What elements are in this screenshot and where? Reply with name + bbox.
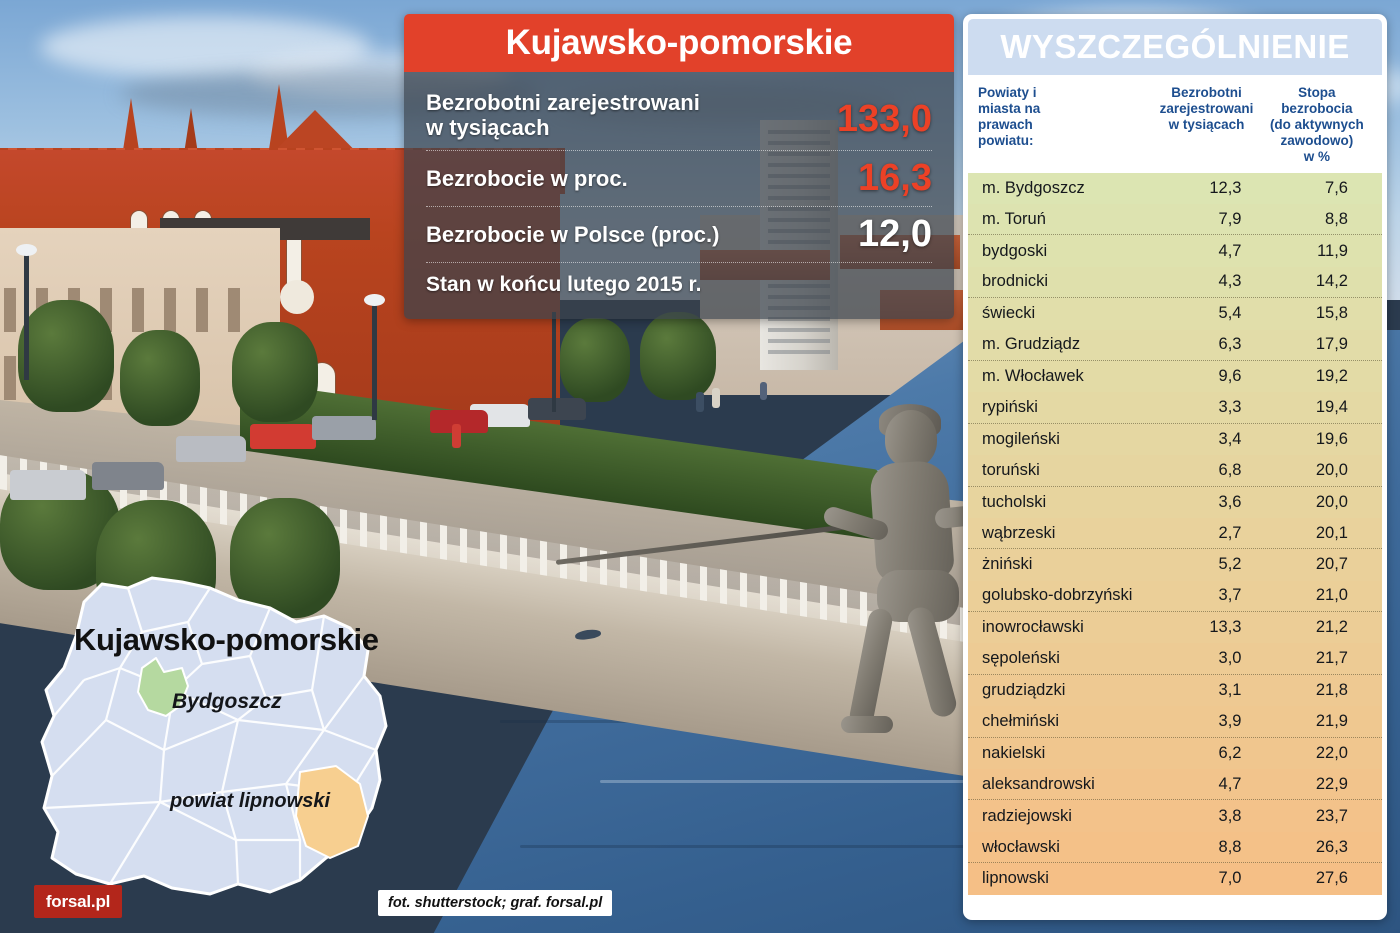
map-label-bydgoszcz: Bydgoszcz <box>172 690 282 714</box>
column-header-rate-line5: w % <box>1304 149 1330 164</box>
lamp-head <box>16 244 37 256</box>
cell-registered-thousands: 5,4 <box>1153 304 1258 323</box>
cell-registered-thousands: 3,3 <box>1153 398 1258 417</box>
cell-powiat-name: grudziądzki <box>982 681 1153 700</box>
tree <box>120 330 200 426</box>
region-map: Kujawsko-pomorskie Bydgoszcz powiat lipn… <box>24 540 444 930</box>
map-svg <box>24 540 444 930</box>
tree <box>640 312 716 400</box>
statue-foot <box>841 716 893 733</box>
table-row: tucholski3,620,0 <box>968 487 1382 518</box>
tree <box>560 318 630 402</box>
table-row: sępoleński3,021,7 <box>968 643 1382 674</box>
cell-powiat-name: m. Bydgoszcz <box>982 179 1153 198</box>
column-header-rate-line4: zawodowo) <box>1280 133 1353 148</box>
page-title: Kujawsko-pomorskie <box>506 23 853 63</box>
cell-registered-thousands: 3,1 <box>1153 681 1258 700</box>
cell-registered-thousands: 12,3 <box>1153 179 1258 198</box>
cell-registered-thousands: 3,9 <box>1153 712 1258 731</box>
car <box>312 416 376 440</box>
stat-value-registered: 133,0 <box>837 98 932 141</box>
stat-label-poland-rate: Bezrobocie w Polsce (proc.) <box>426 222 719 247</box>
table-row: świecki5,415,8 <box>968 298 1382 329</box>
cell-powiat-name: bydgoski <box>982 242 1153 261</box>
map-title: Kujawsko-pomorskie <box>74 622 379 658</box>
cell-registered-thousands: 4,7 <box>1153 775 1258 794</box>
table-row: m. Grudziądz6,317,9 <box>968 330 1382 361</box>
table-row: żniński5,220,7 <box>968 549 1382 580</box>
table-row: rypiński3,319,4 <box>968 392 1382 423</box>
cell-unemployment-rate: 20,1 <box>1257 524 1370 543</box>
cell-powiat-name: radziejowski <box>982 807 1153 826</box>
cell-registered-thousands: 3,6 <box>1153 493 1258 512</box>
stat-value-poland-rate: 12,0 <box>858 213 932 256</box>
cell-powiat-name: golubsko-dobrzyński <box>982 586 1153 605</box>
tree <box>18 300 114 412</box>
tree <box>232 322 318 422</box>
cell-powiat-name: włocławski <box>982 838 1153 857</box>
cell-unemployment-rate: 21,9 <box>1257 712 1370 731</box>
cell-powiat-name: sępoleński <box>982 649 1153 668</box>
table-row: inowrocławski13,321,2 <box>968 612 1382 643</box>
cell-powiat-name: świecki <box>982 304 1153 323</box>
table-row: włocławski8,826,3 <box>968 832 1382 863</box>
stats-panel-header: Kujawsko-pomorskie <box>404 14 954 72</box>
stats-panel: Kujawsko-pomorskie Bezrobotni zarejestro… <box>404 14 954 319</box>
cell-registered-thousands: 3,0 <box>1153 649 1258 668</box>
map-label-powiat-lipnowski: powiat lipnowski <box>170 790 330 813</box>
column-header-registered-line2: zarejestrowani <box>1160 101 1254 116</box>
cell-registered-thousands: 6,2 <box>1153 744 1258 763</box>
details-table-panel: WYSZCZEGÓLNIENIE Powiaty i miasta na pra… <box>963 14 1387 920</box>
stat-label-registered-line2: w tysiącach <box>426 115 550 140</box>
cell-registered-thousands: 7,0 <box>1153 869 1258 888</box>
cell-powiat-name: tucholski <box>982 493 1153 512</box>
stat-label-unemployment-rate: Bezrobocie w proc. <box>426 166 628 191</box>
stat-label-registered-line1: Bezrobotni zarejestrowani <box>426 90 700 115</box>
cell-powiat-name: m. Włocławek <box>982 367 1153 386</box>
cell-powiat-name: rypiński <box>982 398 1153 417</box>
cell-registered-thousands: 9,6 <box>1153 367 1258 386</box>
table-row: chełmiński3,921,9 <box>968 706 1382 737</box>
stat-row-poland-rate: Bezrobocie w Polsce (proc.) 12,0 <box>426 213 932 263</box>
table-row: brodnicki4,314,2 <box>968 267 1382 298</box>
cell-powiat-name: m. Toruń <box>982 210 1153 229</box>
stat-row-registered: Bezrobotni zarejestrowani w tysiącach 13… <box>426 90 932 151</box>
cell-registered-thousands: 4,3 <box>1153 272 1258 291</box>
cell-powiat-name: wąbrzeski <box>982 524 1153 543</box>
forsal-logo[interactable]: forsal.pl <box>34 885 122 918</box>
column-header-rate-line3: (do aktywnych <box>1270 117 1364 132</box>
details-table-title: WYSZCZEGÓLNIENIE <box>1000 28 1349 66</box>
cell-powiat-name: nakielski <box>982 744 1153 763</box>
car <box>92 462 164 490</box>
lamp-head <box>364 294 385 306</box>
table-column-headers: Powiaty i miasta na prawach powiatu: Bez… <box>968 75 1382 173</box>
cell-unemployment-rate: 27,6 <box>1257 869 1370 888</box>
cell-unemployment-rate: 21,2 <box>1257 618 1370 637</box>
table-row: mogileński3,419,6 <box>968 424 1382 455</box>
cell-registered-thousands: 3,7 <box>1153 586 1258 605</box>
column-header-name-line4: powiatu: <box>978 133 1034 148</box>
details-table-header: WYSZCZEGÓLNIENIE <box>968 19 1382 75</box>
cell-unemployment-rate: 8,8 <box>1257 210 1370 229</box>
cell-unemployment-rate: 7,6 <box>1257 179 1370 198</box>
car <box>250 424 316 449</box>
stats-panel-body: Bezrobotni zarejestrowani w tysiącach 13… <box>404 72 954 319</box>
pedestrian <box>696 392 704 412</box>
cell-unemployment-rate: 15,8 <box>1257 304 1370 323</box>
lamp-post <box>24 250 29 380</box>
cell-registered-thousands: 5,2 <box>1153 555 1258 574</box>
cell-powiat-name: m. Grudziądz <box>982 335 1153 354</box>
stat-label-registered: Bezrobotni zarejestrowani w tysiącach <box>426 90 700 140</box>
table-row: grudziądzki3,121,8 <box>968 675 1382 706</box>
cell-powiat-name: brodnicki <box>982 272 1153 291</box>
table-row: lipnowski7,027,6 <box>968 863 1382 894</box>
stat-row-unemployment-rate: Bezrobocie w proc. 16,3 <box>426 157 932 207</box>
cell-unemployment-rate: 23,7 <box>1257 807 1370 826</box>
table-row: m. Włocławek9,619,2 <box>968 361 1382 392</box>
column-header-name-line3: prawach <box>978 117 1033 132</box>
lamp-post <box>372 300 377 420</box>
cell-unemployment-rate: 21,7 <box>1257 649 1370 668</box>
pedestrian <box>712 388 720 408</box>
cell-unemployment-rate: 22,9 <box>1257 775 1370 794</box>
cell-unemployment-rate: 26,3 <box>1257 838 1370 857</box>
table-row: m. Toruń7,98,8 <box>968 204 1382 235</box>
column-header-name-line1: Powiaty i <box>978 85 1037 100</box>
cell-registered-thousands: 7,9 <box>1153 210 1258 229</box>
pedestrian <box>760 382 767 400</box>
cell-powiat-name: chełmiński <box>982 712 1153 731</box>
cell-powiat-name: mogileński <box>982 430 1153 449</box>
column-header-registered: Bezrobotni zarejestrowani w tysiącach <box>1151 85 1261 165</box>
car <box>176 436 246 462</box>
cell-registered-thousands: 8,8 <box>1153 838 1258 857</box>
cell-registered-thousands: 6,8 <box>1153 461 1258 480</box>
column-header-rate-line2: bezrobocia <box>1281 101 1352 116</box>
pedestrian <box>452 424 461 448</box>
cell-unemployment-rate: 19,4 <box>1257 398 1370 417</box>
table-row: toruński6,820,0 <box>968 455 1382 486</box>
lamp-post <box>552 312 556 412</box>
cell-powiat-name: żniński <box>982 555 1153 574</box>
stat-footnote: Stan w końcu lutego 2015 r. <box>426 273 701 297</box>
column-header-name: Powiaty i miasta na prawach powiatu: <box>978 85 1151 165</box>
cell-powiat-name: lipnowski <box>982 869 1153 888</box>
cell-unemployment-rate: 20,0 <box>1257 461 1370 480</box>
cell-unemployment-rate: 21,8 <box>1257 681 1370 700</box>
table-row: nakielski6,222,0 <box>968 738 1382 769</box>
cell-unemployment-rate: 19,6 <box>1257 430 1370 449</box>
table-row: bydgoski4,711,9 <box>968 235 1382 266</box>
infographic-root: Kujawsko-pomorskie Bydgoszcz powiat lipn… <box>0 0 1400 933</box>
table-row: radziejowski3,823,7 <box>968 800 1382 831</box>
cell-unemployment-rate: 19,2 <box>1257 367 1370 386</box>
table-body: m. Bydgoszcz12,37,6m. Toruń7,98,8bydgosk… <box>968 173 1382 915</box>
cell-unemployment-rate: 17,9 <box>1257 335 1370 354</box>
cell-powiat-name: toruński <box>982 461 1153 480</box>
cell-registered-thousands: 2,7 <box>1153 524 1258 543</box>
car <box>10 470 86 500</box>
cell-registered-thousands: 4,7 <box>1153 242 1258 261</box>
car <box>528 398 586 420</box>
cell-unemployment-rate: 20,0 <box>1257 493 1370 512</box>
statue-head <box>885 410 937 468</box>
table-row: aleksandrowski4,722,9 <box>968 769 1382 800</box>
column-header-registered-line1: Bezrobotni <box>1171 85 1242 100</box>
column-header-name-line2: miasta na <box>978 101 1040 116</box>
stat-row-footnote: Stan w końcu lutego 2015 r. <box>426 269 932 303</box>
cell-unemployment-rate: 20,7 <box>1257 555 1370 574</box>
cell-powiat-name: inowrocławski <box>982 618 1153 637</box>
cell-unemployment-rate: 21,0 <box>1257 586 1370 605</box>
column-header-rate: Stopa bezrobocia (do aktywnych zawodowo)… <box>1262 85 1372 165</box>
photo-credit: fot. shutterstock; graf. forsal.pl <box>378 890 612 916</box>
table-row: wąbrzeski2,720,1 <box>968 518 1382 549</box>
cell-unemployment-rate: 14,2 <box>1257 272 1370 291</box>
cell-registered-thousands: 6,3 <box>1153 335 1258 354</box>
cell-registered-thousands: 3,4 <box>1153 430 1258 449</box>
column-header-registered-line3: w tysiącach <box>1169 117 1245 132</box>
cell-registered-thousands: 13,3 <box>1153 618 1258 637</box>
table-row: golubsko-dobrzyński3,721,0 <box>968 581 1382 612</box>
cell-powiat-name: aleksandrowski <box>982 775 1153 794</box>
table-row: m. Bydgoszcz12,37,6 <box>968 173 1382 204</box>
column-header-rate-line1: Stopa <box>1298 85 1336 100</box>
cell-registered-thousands: 3,8 <box>1153 807 1258 826</box>
statue-leg-back <box>905 605 959 720</box>
cell-unemployment-rate: 22,0 <box>1257 744 1370 763</box>
stat-value-unemployment-rate: 16,3 <box>858 157 932 200</box>
cell-unemployment-rate: 11,9 <box>1257 242 1370 261</box>
statue-leg-front <box>848 607 894 729</box>
